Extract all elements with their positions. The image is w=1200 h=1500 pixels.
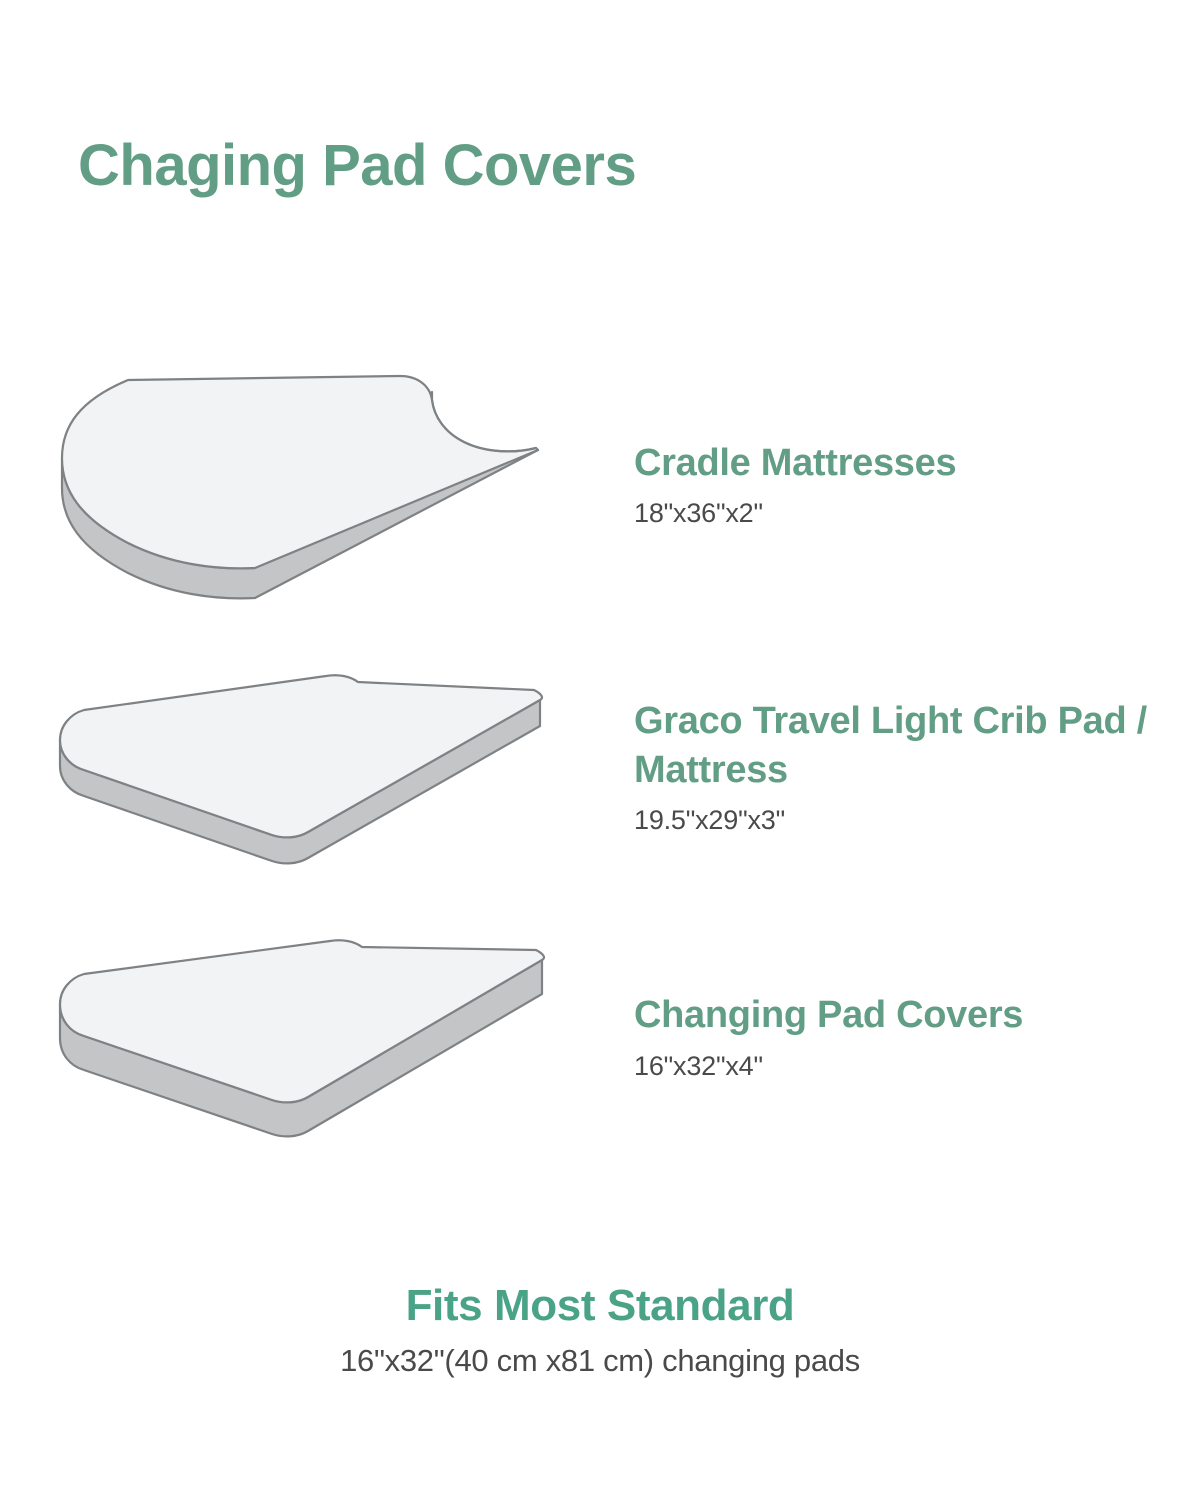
product-name: Changing Pad Covers <box>634 991 1160 1040</box>
product-illustration-2 <box>0 668 600 868</box>
footer-title: Fits Most Standard <box>0 1280 1200 1332</box>
product-illustration-1 <box>0 370 600 600</box>
product-name: Graco Travel Light Crib Pad / Mattress <box>634 697 1160 796</box>
flat-crib-mattress-icon <box>40 668 560 868</box>
product-info-1: Cradle Mattresses 18"x36"x2" <box>600 439 1200 531</box>
footer-subtitle: 16"x32"(40 cm x81 cm) changing pads <box>0 1342 1200 1381</box>
thick-changing-pad-icon <box>40 938 560 1138</box>
infographic-page: Chaging Pad Covers Cradle Mattresses 18"… <box>0 0 1200 1500</box>
product-dimensions: 19.5"x29"x3" <box>634 803 1160 838</box>
product-row: Graco Travel Light Crib Pad / Mattress 1… <box>0 660 1200 875</box>
page-title: Chaging Pad Covers <box>78 136 636 197</box>
product-illustration-3 <box>0 938 600 1138</box>
footer: Fits Most Standard 16"x32"(40 cm x81 cm)… <box>0 1280 1200 1381</box>
contoured-changing-pad-icon <box>40 370 560 600</box>
product-info-2: Graco Travel Light Crib Pad / Mattress 1… <box>600 697 1200 839</box>
product-dimensions: 18"x36"x2" <box>634 496 1160 531</box>
product-row: Changing Pad Covers 16"x32"x4" <box>0 930 1200 1145</box>
product-row: Cradle Mattresses 18"x36"x2" <box>0 370 1200 600</box>
product-name: Cradle Mattresses <box>634 439 1160 488</box>
product-dimensions: 16"x32"x4" <box>634 1049 1160 1084</box>
product-info-3: Changing Pad Covers 16"x32"x4" <box>600 991 1200 1083</box>
